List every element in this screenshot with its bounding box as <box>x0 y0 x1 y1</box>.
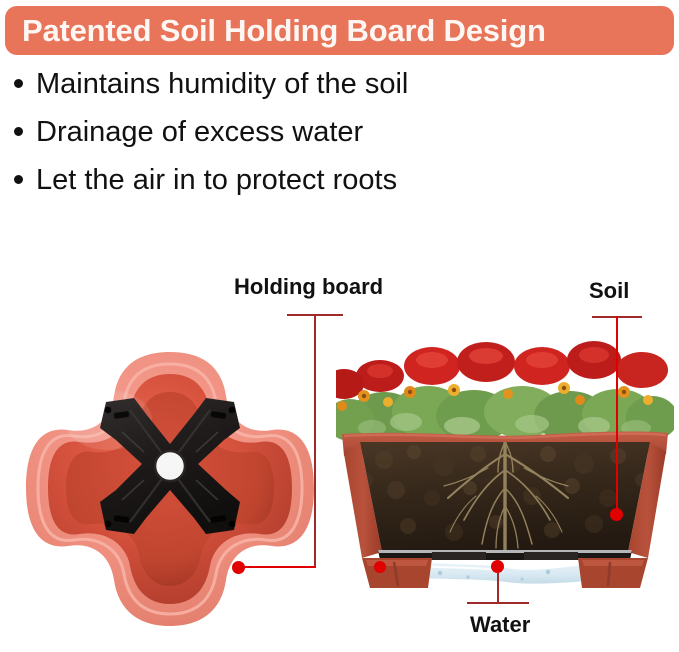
holding-board-leader-arm <box>240 566 316 568</box>
holding-board-marker-dot <box>232 561 245 574</box>
soil-leader-line <box>616 316 618 514</box>
bullet-dot-icon <box>14 175 23 184</box>
planter-cross-section-illustration <box>336 330 674 592</box>
soil-marker-dot <box>610 508 623 521</box>
board-hole <box>105 407 112 414</box>
list-item: Drainage of excess water <box>14 116 614 164</box>
page-title: Patented Soil Holding Board Design <box>5 13 546 49</box>
label-water: Water <box>470 612 530 638</box>
header-banner: Patented Soil Holding Board Design <box>5 6 674 55</box>
list-item-label: Let the air in to protect roots <box>36 164 397 197</box>
list-item-label: Drainage of excess water <box>36 116 363 149</box>
planter-cross-section-svg <box>336 330 674 592</box>
board-hole <box>105 521 112 528</box>
list-item: Maintains humidity of the soil <box>14 68 614 116</box>
board-hole <box>229 521 236 528</box>
list-item: Let the air in to protect roots <box>14 164 614 212</box>
bullet-dot-icon <box>14 127 23 136</box>
base-marker-dot <box>374 561 386 573</box>
pot-top-view-illustration <box>22 348 318 632</box>
pot-top-view-svg <box>22 348 318 632</box>
label-holding-board: Holding board <box>234 274 383 300</box>
bullet-dot-icon <box>14 79 23 88</box>
water-marker-dot <box>491 560 504 573</box>
list-item-label: Maintains humidity of the soil <box>36 68 408 101</box>
holding-board-leader-line <box>314 314 316 568</box>
feature-list: Maintains humidity of the soil Drainage … <box>14 68 614 212</box>
label-soil: Soil <box>589 278 629 304</box>
flower-cluster <box>336 341 674 442</box>
board-hole <box>229 407 236 414</box>
water-leader-cap <box>467 602 529 604</box>
product-diagram: Holding board Soil Water <box>0 236 679 652</box>
